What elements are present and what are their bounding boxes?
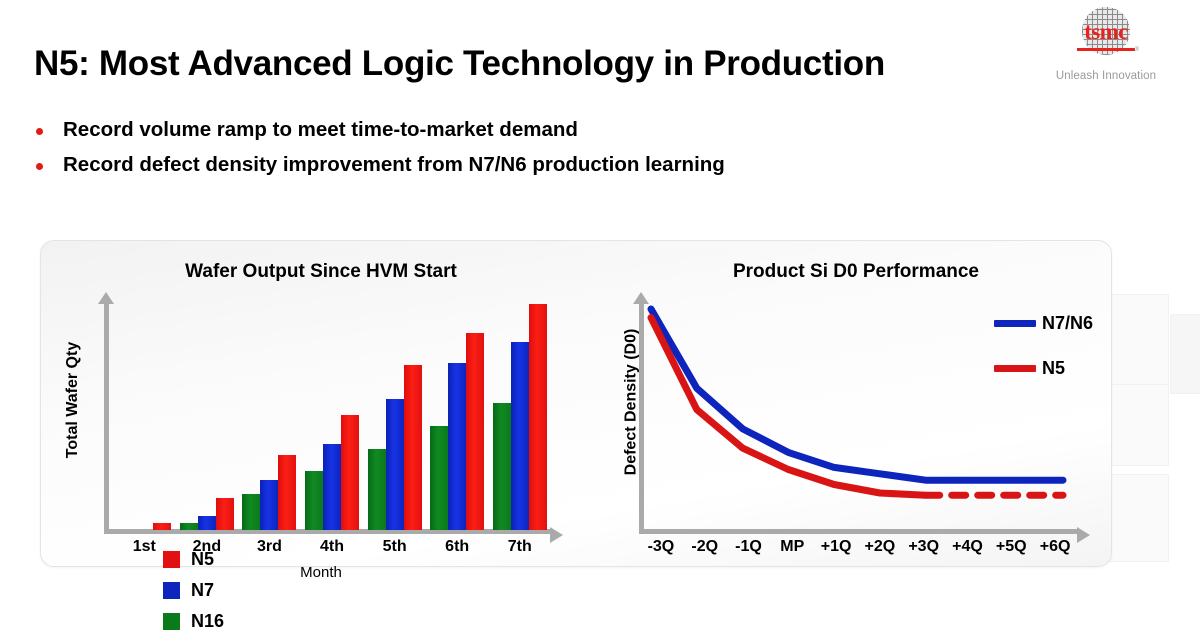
bar-n5	[466, 333, 484, 530]
bar-n16	[493, 403, 511, 530]
chart-title: Wafer Output Since HVM Start	[41, 261, 601, 283]
charts-panel: Wafer Output Since HVM Start Total Wafer…	[40, 240, 1112, 567]
bar-group	[488, 304, 551, 530]
x-axis-title: Month	[41, 564, 601, 581]
legend-swatch-n7	[163, 582, 180, 599]
bar-n5	[529, 304, 547, 530]
bar-group	[238, 304, 301, 530]
legend-label: N16	[191, 611, 224, 632]
x-tick-label: -2Q	[683, 538, 727, 556]
x-tick-label: 1st	[113, 538, 176, 556]
y-axis-label: Total Wafer Qty	[64, 335, 82, 465]
bullet-text: Record volume ramp to meet time-to-marke…	[63, 118, 578, 142]
bullet-dot-icon	[36, 128, 43, 135]
legend-line-n7n6	[994, 320, 1036, 327]
logo-mark: tsmc ®	[1073, 6, 1139, 66]
x-tick-label: 7th	[488, 538, 551, 556]
x-tick-label: -1Q	[727, 538, 771, 556]
page-title: N5: Most Advanced Logic Technology in Pr…	[34, 44, 885, 84]
line-chart-legend: N7/N6 N5	[994, 313, 1093, 403]
logo-underline	[1077, 48, 1135, 51]
line-n5	[651, 318, 926, 496]
bullet-dot-icon	[36, 163, 43, 170]
bullet-text: Record defect density improvement from N…	[63, 153, 725, 177]
legend-label: N5	[1042, 358, 1065, 379]
x-axis-ticks: 1st2nd3rd4th5th6th7th	[113, 538, 551, 556]
y-axis-arrow-icon	[98, 292, 114, 304]
x-tick-label: +4Q	[946, 538, 990, 556]
bar-n5	[216, 498, 234, 530]
bar-n7	[448, 363, 466, 530]
bar-n7	[323, 444, 341, 530]
line-plot-area	[601, 241, 1111, 566]
legend-line-n5	[994, 365, 1036, 372]
bar-group	[113, 304, 176, 530]
registered-mark-icon: ®	[1135, 47, 1139, 53]
bar-n5	[278, 455, 296, 530]
bar-n16	[368, 449, 386, 530]
bar-group	[363, 304, 426, 530]
legend-item: N7	[163, 580, 224, 601]
list-item: Record defect density improvement from N…	[36, 153, 936, 177]
list-item: Record volume ramp to meet time-to-marke…	[36, 118, 936, 142]
x-tick-label: 6th	[426, 538, 489, 556]
tsmc-logo: tsmc ® Unleash Innovation	[1026, 6, 1186, 82]
bar-group	[301, 304, 364, 530]
bullet-list: Record volume ramp to meet time-to-marke…	[36, 118, 936, 188]
logo-wordmark: tsmc	[1073, 20, 1139, 43]
x-tick-label: 4th	[301, 538, 364, 556]
legend-item: N5	[994, 358, 1093, 379]
bar-n7	[198, 516, 216, 530]
bar-chart-legend: N5 N7 N16	[163, 549, 224, 642]
bar-group	[426, 304, 489, 530]
legend-swatch-n16	[163, 613, 180, 630]
chart-d0-performance: Product Si D0 Performance Defect Density…	[601, 241, 1111, 566]
legend-label: N7/N6	[1042, 313, 1093, 334]
x-tick-label: -3Q	[639, 538, 683, 556]
legend-item: N7/N6	[994, 313, 1093, 334]
bar-n16	[430, 426, 448, 530]
bar-n16	[305, 471, 323, 530]
x-tick-label: 5th	[363, 538, 426, 556]
bar-group	[176, 304, 239, 530]
x-axis-arrow-icon	[550, 527, 563, 543]
bar-n5	[153, 523, 171, 530]
chart-wafer-output: Wafer Output Since HVM Start Total Wafer…	[41, 241, 601, 566]
bar-n7	[386, 399, 404, 530]
x-tick-label: +2Q	[858, 538, 902, 556]
bar-plot-area	[113, 304, 551, 530]
bar-n7	[260, 480, 278, 530]
x-tick-label: +6Q	[1033, 538, 1077, 556]
bar-n5	[341, 415, 359, 530]
x-tick-label: 3rd	[238, 538, 301, 556]
bar-n16	[180, 523, 198, 530]
bar-n16	[242, 494, 260, 530]
bar-n5	[404, 365, 422, 530]
bar-n7	[511, 342, 529, 530]
x-tick-label: +1Q	[814, 538, 858, 556]
x-tick-label: +5Q	[989, 538, 1033, 556]
x-tick-label: 2nd	[176, 538, 239, 556]
x-tick-label: +3Q	[902, 538, 946, 556]
y-axis-line	[104, 303, 109, 531]
x-axis-ticks: -3Q-2Q-1QMP+1Q+2Q+3Q+4Q+5Q+6Q	[639, 538, 1077, 556]
legend-item: N16	[163, 611, 224, 632]
logo-tagline: Unleash Innovation	[1026, 70, 1186, 82]
legend-label: N7	[191, 580, 214, 601]
x-tick-label: MP	[770, 538, 814, 556]
